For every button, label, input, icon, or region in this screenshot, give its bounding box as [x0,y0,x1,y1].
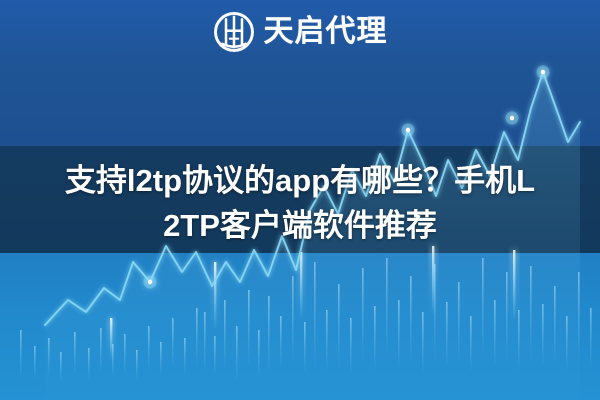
tianqi-circular-monogram-icon [213,11,255,53]
banner-bottom-band [0,253,600,400]
page-title: 支持l2tp协议的app有哪些？手机L 2TP客户端软件推荐 [18,158,582,248]
brand-logo: 天启代理 [0,6,600,58]
page-title-line-1: 支持l2tp协议的app有哪些？手机L [18,158,582,203]
brand-logo-text: 天启代理 [264,17,388,47]
promo-banner: 天启代理 支持l2tp协议的app有哪些？手机L 2TP客户端软件推荐 [0,0,600,400]
page-title-line-2: 2TP客户端软件推荐 [18,203,582,248]
